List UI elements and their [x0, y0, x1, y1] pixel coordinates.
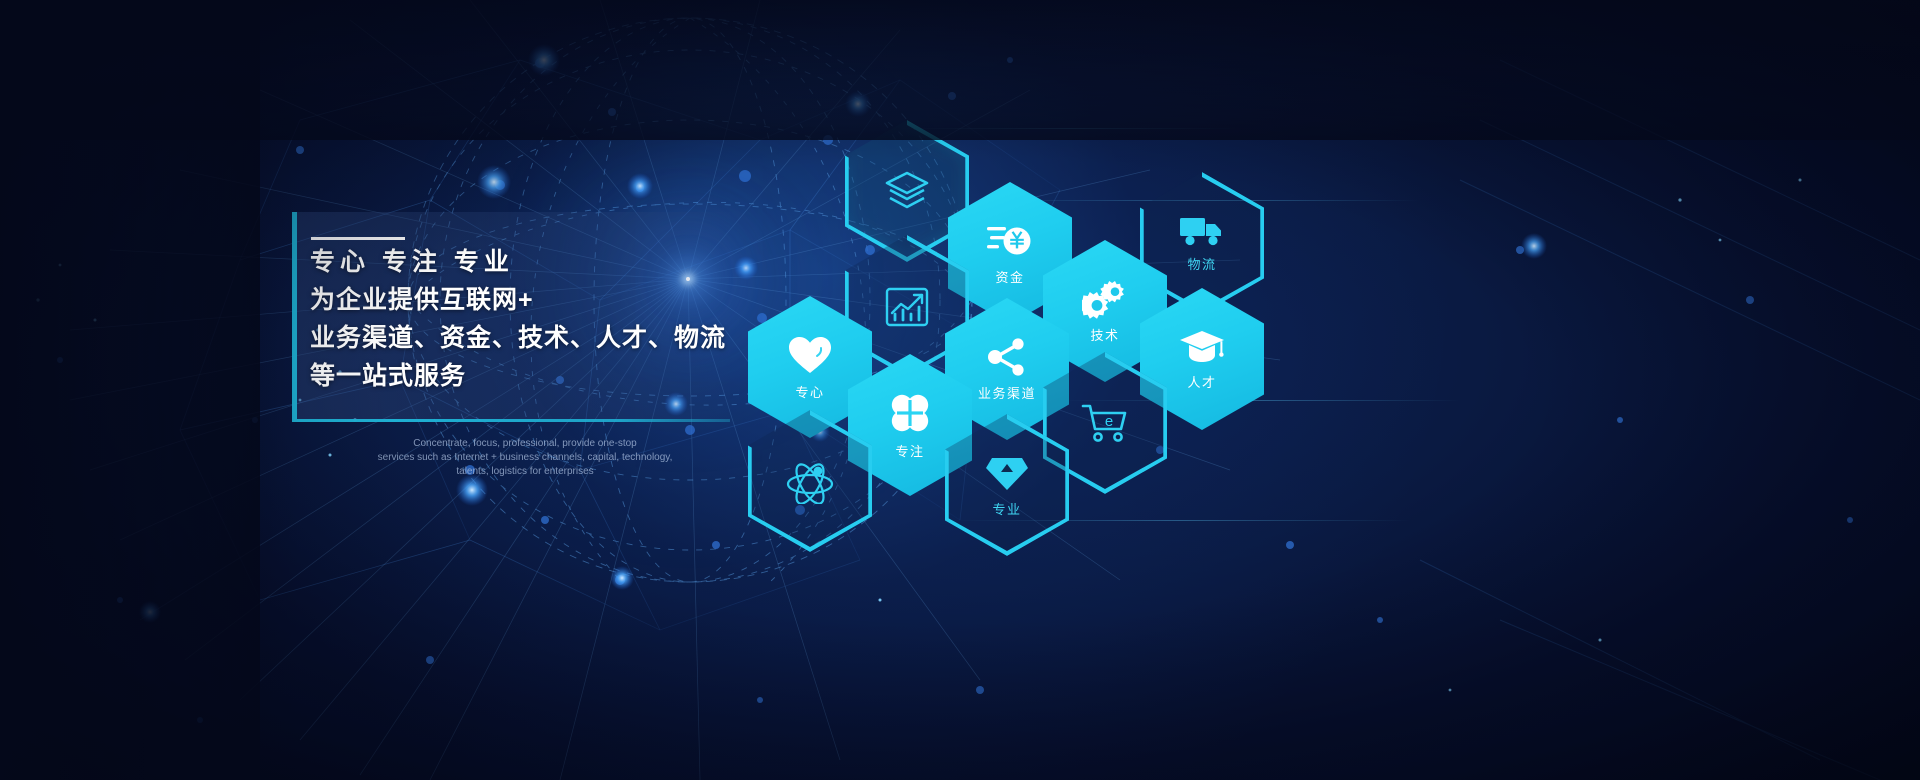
- hero-banner: 资金 物流: [0, 0, 1920, 780]
- headline-line-3: 业务渠道、资金、技术、人才、物流: [310, 319, 740, 357]
- headline-line-1: 专心 专注 专业: [310, 243, 740, 281]
- hex-label: 专心: [795, 382, 824, 401]
- panel-underline: [292, 419, 730, 422]
- accent-bar: [292, 212, 297, 422]
- growth-chart-icon: [883, 283, 931, 329]
- hex-label: 物流: [1187, 254, 1216, 273]
- hex-label: 技术: [1090, 325, 1119, 344]
- headline-line-2: 为企业提供互联网+: [310, 281, 740, 319]
- hex-label: 资金: [995, 267, 1024, 286]
- subtitle-block: Concentrate, focus, professional, provid…: [330, 437, 720, 479]
- hexagon-cluster: 资金 物流: [0, 0, 1920, 780]
- layers-icon: [883, 169, 931, 213]
- graduation-cap-icon: [1178, 328, 1226, 366]
- shopping-cart-e-icon: e: [1080, 402, 1130, 444]
- subtitle-line-2: services such as Internet + business cha…: [330, 451, 720, 465]
- gears-icon: [1082, 279, 1128, 319]
- svg-text:e: e: [1105, 413, 1113, 430]
- hex-label: 人才: [1187, 372, 1216, 391]
- hex-label: 业务渠道: [978, 383, 1036, 402]
- atom-icon: [785, 458, 835, 504]
- hex-label: 专业: [992, 499, 1021, 518]
- headline-rule: [311, 237, 405, 240]
- headline-block: 专心 专注 专业 为企业提供互联网+ 业务渠道、资金、技术、人才、物流 等一站式…: [310, 243, 740, 395]
- subtitle-line-3: talents, logistics for enterprises: [330, 465, 720, 479]
- hex-science[interactable]: [748, 410, 872, 552]
- truck-icon: [1179, 214, 1225, 248]
- yen-coin-icon: [987, 221, 1033, 261]
- diamond-icon: [985, 453, 1029, 493]
- clover-icon: [888, 391, 932, 435]
- hex-professional[interactable]: 专业: [945, 414, 1069, 556]
- headline-line-4: 等一站式服务: [310, 357, 740, 395]
- hex-label: 专注: [895, 441, 924, 460]
- share-nodes-icon: [985, 337, 1029, 377]
- heart-icon: [787, 334, 833, 376]
- subtitle-line-1: Concentrate, focus, professional, provid…: [330, 437, 720, 451]
